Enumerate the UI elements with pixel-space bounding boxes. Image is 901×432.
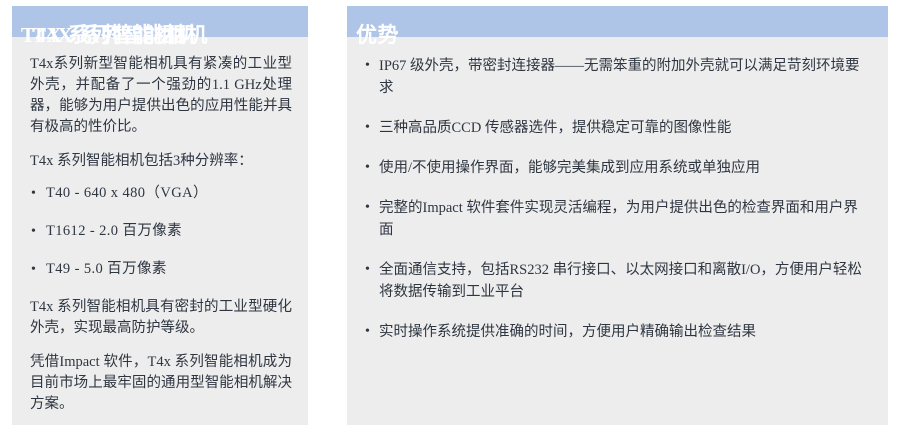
right-panel: 优势 IP67 级外壳，带密封连接器——无需笨重的附加外壳就可以满足苛刻环境要求… [347, 6, 888, 425]
list-item: T49 - 5.0 百万像素 [30, 259, 292, 280]
list-item: 使用/不使用操作界面，能够完美集成到应用系统或单独应用 [365, 157, 868, 179]
list-item: T1612 - 2.0 百万像素 [30, 221, 292, 242]
list-item: IP67 级外壳，带密封连接器——无需笨重的附加外壳就可以满足苛刻环境要求 [365, 55, 868, 99]
left-paragraph-4: 凭借Impact 软件，T4x 系列智能相机成为目前市场上最牢固的通用型智能相机… [30, 352, 292, 415]
right-panel-header [347, 6, 888, 37]
list-item: 实时操作系统提供准确的时间，方便用户精确输出检查结果 [365, 321, 868, 343]
list-item: 完整的Impact 软件套件实现灵活编程，为用户提供出色的检查界面和用户界面 [365, 197, 868, 241]
slide-root: T4X 系列智能相机 T4X 系列智能相机 T4x系列新型智能相机具有紧凑的工业… [0, 0, 901, 432]
list-item: T40 - 640 x 480（VGA） [30, 183, 292, 204]
left-resolution-list: T40 - 640 x 480（VGA） T1612 - 2.0 百万像素 T4… [30, 183, 292, 280]
left-panel-body: T4x系列新型智能相机具有紧凑的工业型外壳，并配备了一个强劲的1.1 GHz处理… [12, 37, 308, 428]
left-panel: T4X 系列智能相机 T4X 系列智能相机 T4x系列新型智能相机具有紧凑的工业… [12, 6, 308, 425]
list-item: 三种高品质CCD 传感器选件，提供稳定可靠的图像性能 [365, 117, 868, 139]
left-paragraph-3: T4x 系列智能相机具有密封的工业型硬化外壳，实现最高防护等级。 [30, 297, 292, 339]
left-paragraph-2: T4x 系列智能相机包括3种分辨率： [30, 151, 292, 172]
left-paragraph-1: T4x系列新型智能相机具有紧凑的工业型外壳，并配备了一个强劲的1.1 GHz处理… [30, 54, 292, 138]
list-item: 全面通信支持，包括RS232 串行接口、以太网接口和离散I/O，方便用户轻松将数… [365, 259, 868, 303]
advantages-list: IP67 级外壳，带密封连接器——无需笨重的附加外壳就可以满足苛刻环境要求 三种… [365, 55, 868, 343]
right-panel-body: IP67 级外壳，带密封连接器——无需笨重的附加外壳就可以满足苛刻环境要求 三种… [347, 37, 888, 361]
